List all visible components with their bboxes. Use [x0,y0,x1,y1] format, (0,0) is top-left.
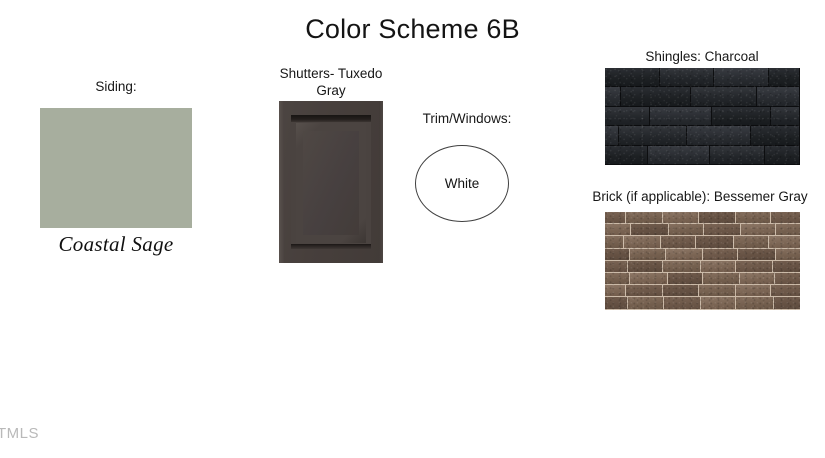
trim-color-ellipse: White [415,145,509,222]
brick-caption: Brick (if applicable): Bessemer Gray [578,189,822,206]
shutter-panel-top-shadow [291,115,371,122]
page-title: Color Scheme 6B [0,14,825,45]
color-scheme-slide: Color Scheme 6B Siding: Coastal Sage Shu… [0,0,825,458]
shutters-caption-line1: Shutters- Tuxedo [280,66,383,81]
shutter-panel-bottom-shadow [291,244,371,249]
siding-color-name: Coastal Sage [28,232,204,257]
brick-sample-image [605,212,800,310]
shutters-caption: Shutters- Tuxedo Gray [270,66,392,100]
siding-caption: Siding: [40,79,192,96]
shutter-panel-face [303,131,359,235]
shingles-caption: Shingles: Charcoal [597,49,807,66]
siding-color-swatch [40,108,192,228]
trim-windows-caption: Trim/Windows: [405,111,529,128]
trim-color-name: White [416,146,508,221]
shutter-panel [291,115,371,249]
shutters-caption-line2: Gray [316,83,345,98]
tmls-watermark: TMLS [0,425,39,442]
shutter-panel-bevel [296,123,366,243]
shingles-sample-image [605,68,800,165]
shutter-sample-image [279,101,383,263]
